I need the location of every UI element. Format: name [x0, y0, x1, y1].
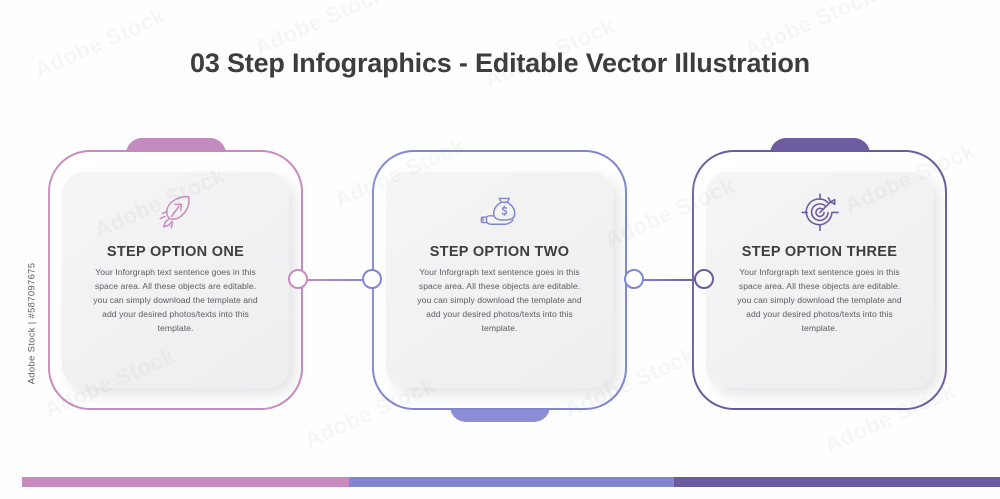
step-two-body: Your Inforgraph text sentence goes in th… — [412, 266, 588, 336]
step-three-body: Your Inforgraph text sentence goes in th… — [732, 266, 908, 336]
steps-container: STEP OPTION ONE Your Inforgraph text sen… — [0, 0, 1000, 499]
step-one-heading: STEP OPTION ONE — [107, 244, 244, 260]
step-one-panel: STEP OPTION ONE Your Inforgraph text sen… — [62, 172, 289, 388]
watermark-vertical-label: Adobe Stock | #587097675 — [27, 244, 38, 404]
step-two-panel: STEP OPTION TWO Your Inforgraph text sen… — [386, 172, 613, 388]
step-card-two[interactable]: STEP OPTION TWO Your Inforgraph text sen… — [372, 150, 627, 410]
target-arrow-icon — [790, 184, 850, 240]
infographic-canvas: Adobe Stock Adobe Stock Adobe Stock Adob… — [0, 0, 1000, 499]
connector-two-three-node-right[interactable] — [694, 269, 714, 289]
rocket-icon — [146, 184, 206, 240]
bottom-bar-segment-two — [349, 477, 675, 487]
money-bag-hand-icon — [470, 184, 530, 240]
step-two-heading: STEP OPTION TWO — [430, 244, 570, 260]
connector-two-three-node-left[interactable] — [624, 269, 644, 289]
connector-one-two-node-right[interactable] — [362, 269, 382, 289]
step-card-one[interactable]: STEP OPTION ONE Your Inforgraph text sen… — [48, 150, 303, 410]
bottom-bar-segment-three — [674, 477, 1000, 487]
step-one-body: Your Inforgraph text sentence goes in th… — [88, 266, 264, 336]
connector-two-three — [624, 279, 714, 281]
connector-one-two-node-left[interactable] — [288, 269, 308, 289]
step-three-panel: STEP OPTION THREE Your Inforgraph text s… — [706, 172, 933, 388]
bottom-bar-segment-one — [22, 477, 349, 487]
step-three-heading: STEP OPTION THREE — [742, 244, 898, 260]
connector-one-two-line — [298, 279, 372, 281]
step-card-three[interactable]: STEP OPTION THREE Your Inforgraph text s… — [692, 150, 947, 410]
bottom-color-bar — [22, 477, 1000, 487]
connector-one-two — [288, 279, 382, 281]
